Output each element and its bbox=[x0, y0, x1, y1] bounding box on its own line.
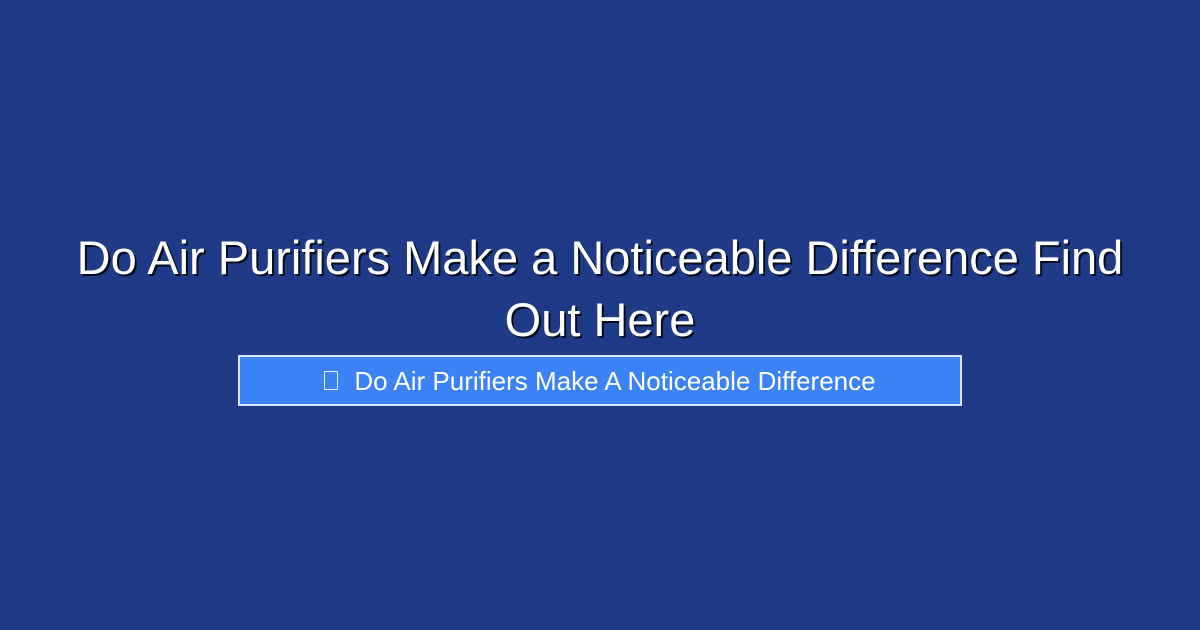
topic-badge[interactable]: Do Air Purifiers Make A Noticeable Diffe… bbox=[238, 355, 962, 406]
missing-glyph-box-icon bbox=[324, 371, 338, 390]
page-title: Do Air Purifiers Make a Noticeable Diffe… bbox=[55, 227, 1145, 351]
card-content-stack: Do Air Purifiers Make a Noticeable Diffe… bbox=[0, 0, 1200, 630]
badge-row: Do Air Purifiers Make A Noticeable Diffe… bbox=[0, 355, 1200, 406]
social-share-card: Do Air Purifiers Make a Noticeable Diffe… bbox=[0, 0, 1200, 630]
topic-badge-label: Do Air Purifiers Make A Noticeable Diffe… bbox=[354, 366, 875, 396]
